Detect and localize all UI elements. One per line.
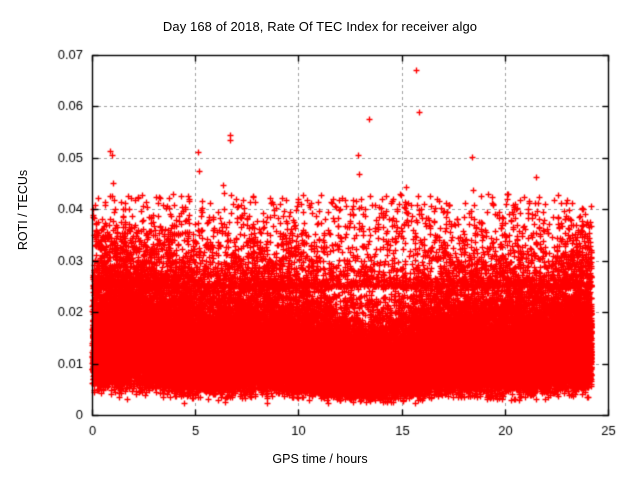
x-axis-title: GPS time / hours — [0, 452, 640, 466]
gnuplot-figure: Day 168 of 2018, Rate Of TEC Index for r… — [0, 0, 640, 480]
y-axis-title: ROTI / TECUs — [16, 140, 30, 280]
scatter-plot-canvas — [0, 0, 640, 480]
